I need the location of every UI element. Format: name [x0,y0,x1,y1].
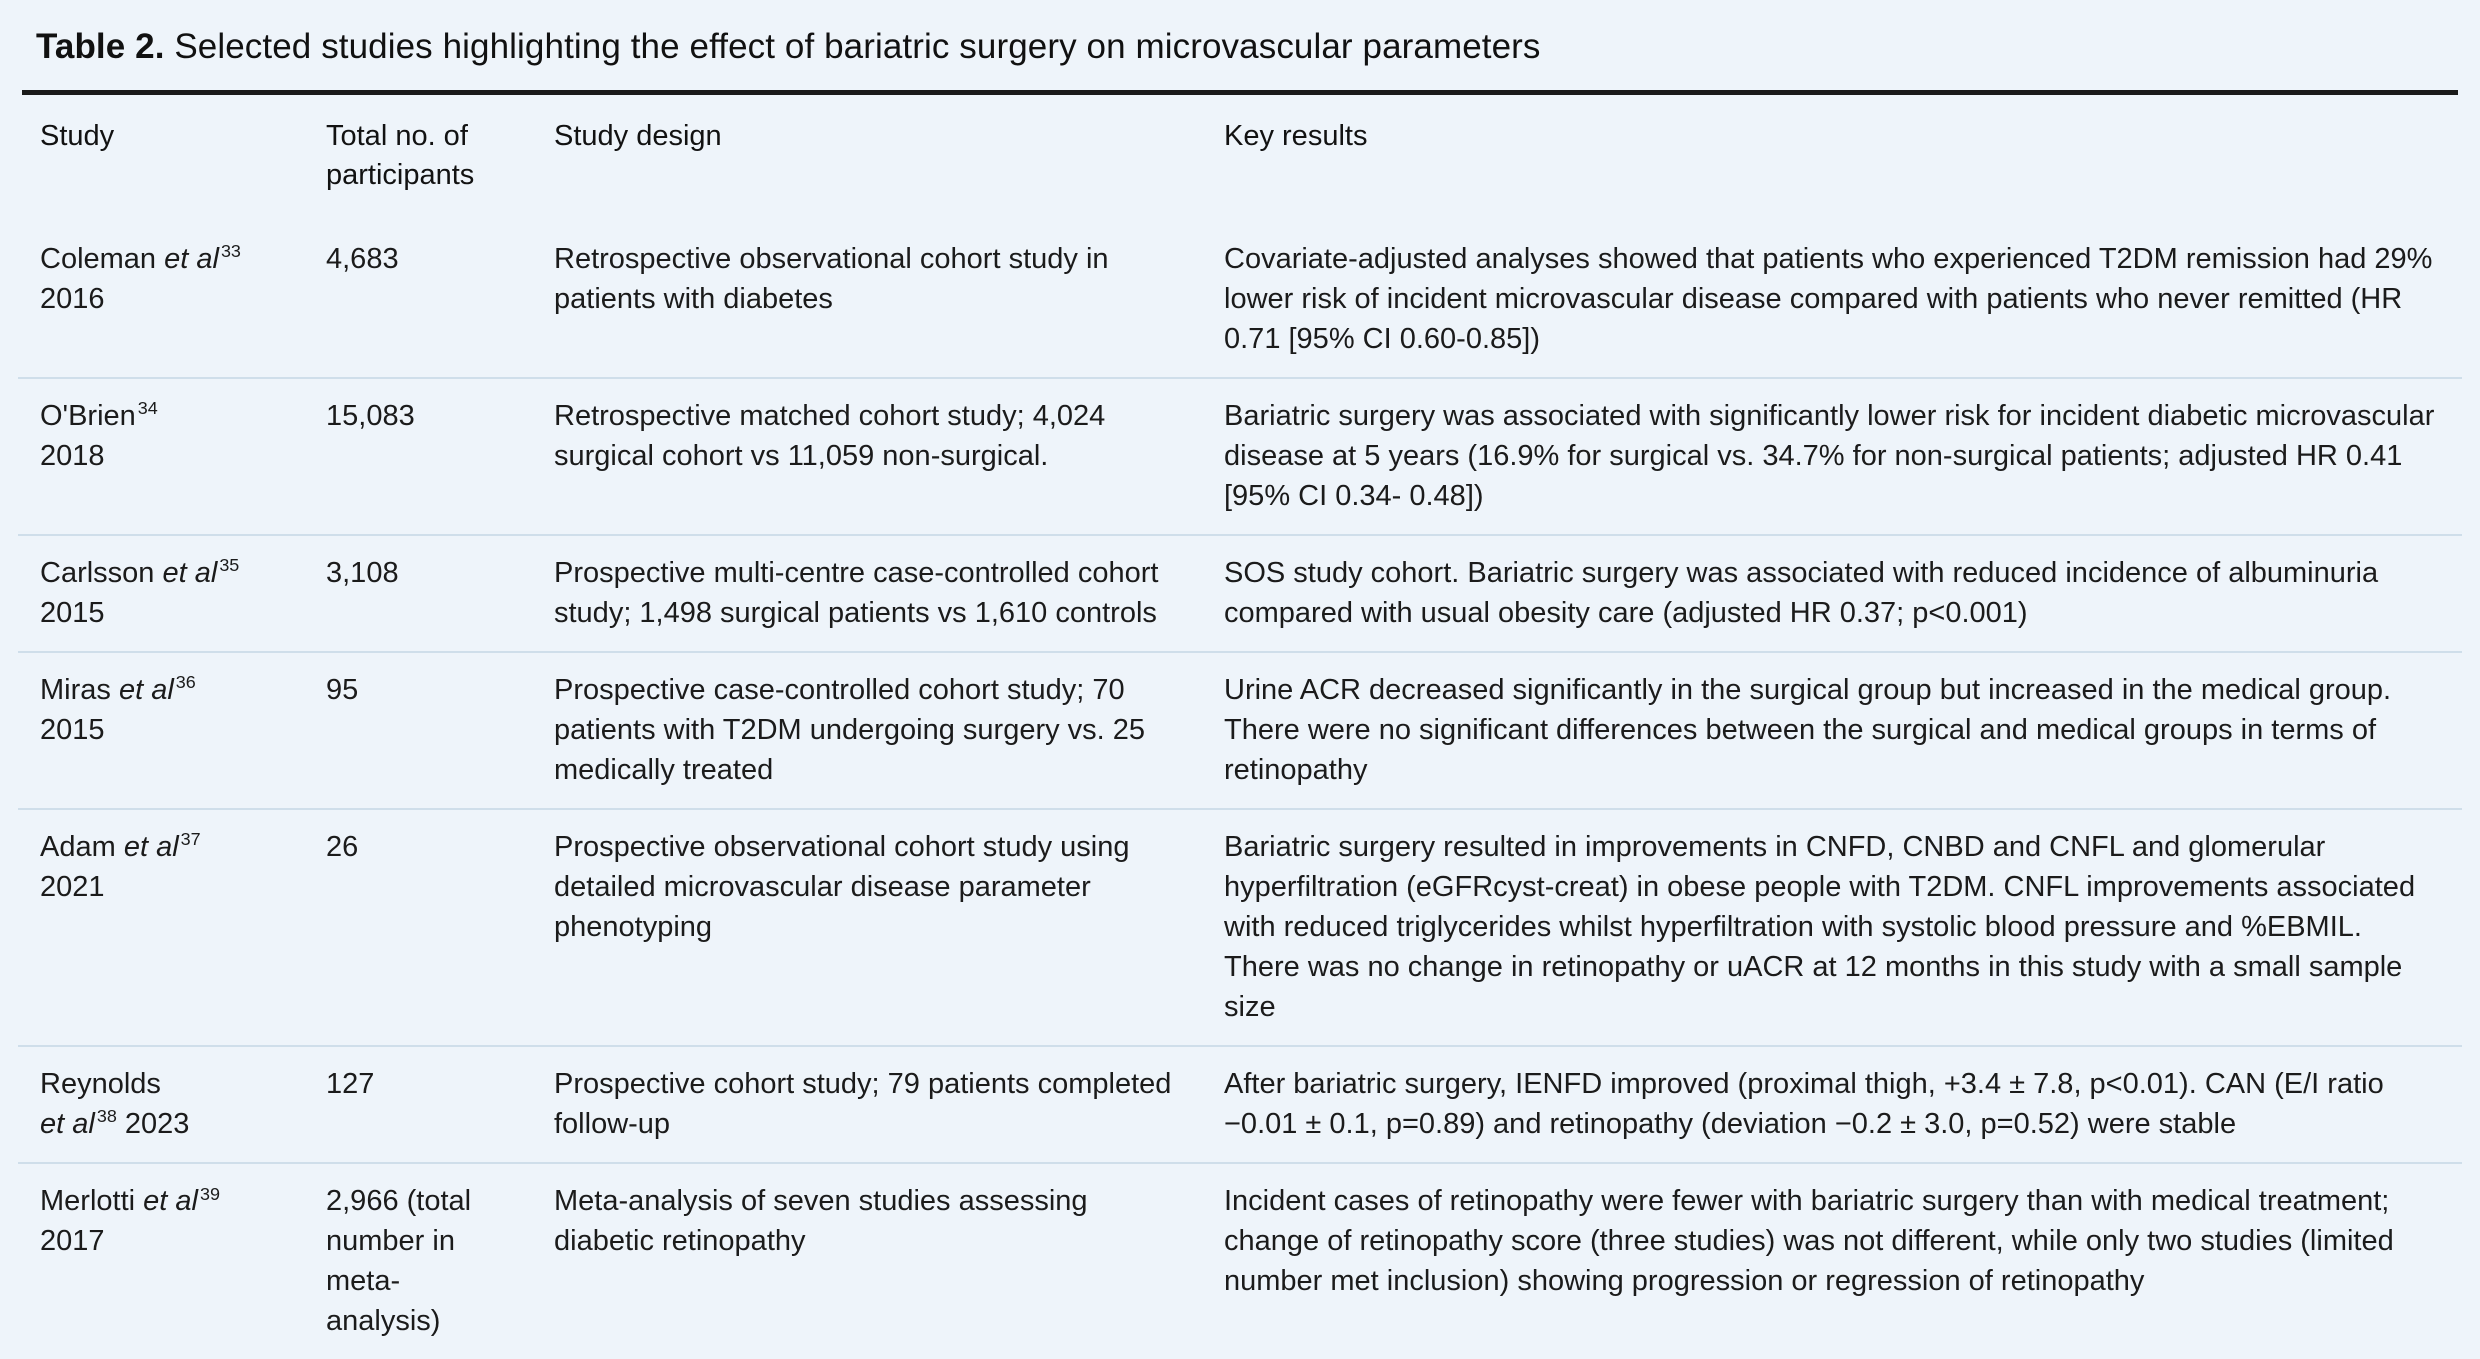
cell-total-participants: 15,083 [304,378,532,535]
cell-study-design: Prospective case-controlled cohort study… [532,652,1202,809]
cell-key-results: After bariatric surgery, IENFD improved … [1202,1046,2462,1163]
study-name: Carlsson et al [40,557,217,589]
study-name: Adam et al [40,831,179,863]
cell-study-design: Prospective multi-centre case-controlled… [532,535,1202,652]
study-name: Merlotti et al [40,1185,198,1217]
column-header-total-participants: Total no. of participants [304,95,532,222]
study-year: 2016 [40,283,105,315]
column-header-study: Study [18,95,304,222]
cell-study-design: Prospective observational cohort study u… [532,809,1202,1046]
cell-study: O'Brien342018 [18,378,304,535]
cell-study-design: Prospective cohort study; 79 patients co… [532,1046,1202,1163]
cell-study: Miras et al362015 [18,652,304,809]
table-row: Coleman et al3320164,683Retrospective ob… [18,222,2462,378]
cell-total-participants: 127 [304,1046,532,1163]
study-year: 2018 [40,440,105,472]
studies-table: Study Total no. of participants Study de… [18,95,2462,1359]
cell-study: Coleman et al332016 [18,222,304,378]
study-year: 2015 [40,714,105,746]
cell-key-results: Bariatric surgery resulted in improvemen… [1202,809,2462,1046]
table-caption-label: Table 2. [36,27,165,66]
study-name: Coleman et al [40,243,219,275]
study-name: Reynolds [40,1068,161,1100]
column-header-study-design: Study design [532,95,1202,222]
table-header: Study Total no. of participants Study de… [18,95,2462,222]
study-year: 2015 [40,597,105,629]
cell-total-participants: 26 [304,809,532,1046]
table-row: Carlsson et al3520153,108Prospective mul… [18,535,2462,652]
cell-study-design: Retrospective observational cohort study… [532,222,1202,378]
study-reference: 35 [217,555,239,575]
study-year: 2017 [40,1225,105,1257]
study-etal: et al [40,1108,95,1140]
study-reference: 38 [95,1106,117,1126]
cell-key-results: Bariatric surgery was associated with si… [1202,378,2462,535]
cell-key-results: Urine ACR decreased significantly in the… [1202,652,2462,809]
cell-key-results: Covariate-adjusted analyses showed that … [1202,222,2462,378]
cell-total-participants: 95 [304,652,532,809]
table-body: Coleman et al3320164,683Retrospective ob… [18,222,2462,1359]
table-header-row: Study Total no. of participants Study de… [18,95,2462,222]
study-reference: 39 [198,1184,220,1204]
cell-study: Carlsson et al352015 [18,535,304,652]
cell-study: Adam et al372021 [18,809,304,1046]
cell-key-results: SOS study cohort. Bariatric surgery was … [1202,535,2462,652]
study-year: 2021 [40,871,105,903]
cell-study-design: Retrospective matched cohort study; 4,02… [532,378,1202,535]
table-caption: Table 2. Selected studies highlighting t… [18,0,2462,90]
study-name: Miras et al [40,674,174,706]
table-row: O'Brien34201815,083Retrospective matched… [18,378,2462,535]
study-name: O'Brien [40,400,136,432]
study-reference: 34 [136,398,158,418]
table-caption-text: Selected studies highlighting the effect… [174,27,1540,66]
table-row: Reynoldset al38 2023127Prospective cohor… [18,1046,2462,1163]
cell-study-design: Meta-analysis of seven studies assessing… [532,1163,1202,1359]
table-row: Merlotti et al3920172,966 (total number … [18,1163,2462,1359]
study-reference: 37 [179,829,201,849]
cell-study: Reynoldset al38 2023 [18,1046,304,1163]
study-year: 2023 [117,1108,190,1140]
cell-total-participants: 2,966 (total number in meta-analysis) [304,1163,532,1359]
table-row: Miras et al36201595Prospective case-cont… [18,652,2462,809]
column-header-key-results: Key results [1202,95,2462,222]
cell-total-participants: 4,683 [304,222,532,378]
study-reference: 36 [174,672,196,692]
table-figure: Table 2. Selected studies highlighting t… [0,0,2480,1246]
study-reference: 33 [219,241,241,261]
cell-study: Merlotti et al392017 [18,1163,304,1359]
cell-total-participants: 3,108 [304,535,532,652]
table-row: Adam et al37202126Prospective observatio… [18,809,2462,1046]
cell-key-results: Incident cases of retinopathy were fewer… [1202,1163,2462,1359]
